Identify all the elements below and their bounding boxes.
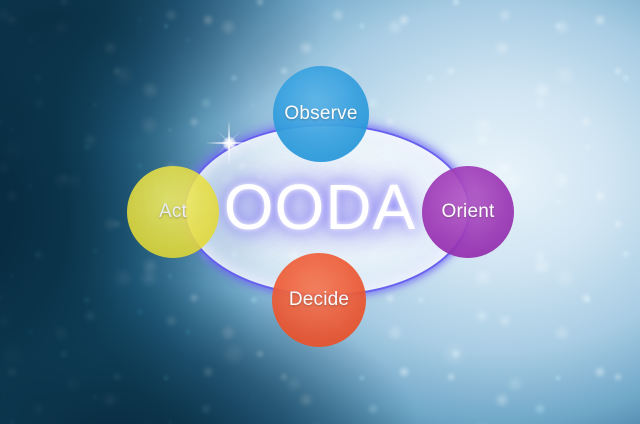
node-decide-label: Decide <box>289 289 349 311</box>
node-act-label: Act <box>159 201 187 223</box>
node-orient[interactable]: Orient <box>422 166 514 258</box>
node-observe[interactable]: Observe <box>273 66 369 162</box>
node-act[interactable]: Act <box>127 166 219 258</box>
node-decide[interactable]: Decide <box>272 253 366 347</box>
node-observe-label: Observe <box>284 103 357 125</box>
ooda-center-title: OODA <box>0 175 640 239</box>
ooda-loop-graphic: OODA Observe Orient Decide Act <box>0 0 640 424</box>
node-orient-label: Orient <box>442 201 495 223</box>
